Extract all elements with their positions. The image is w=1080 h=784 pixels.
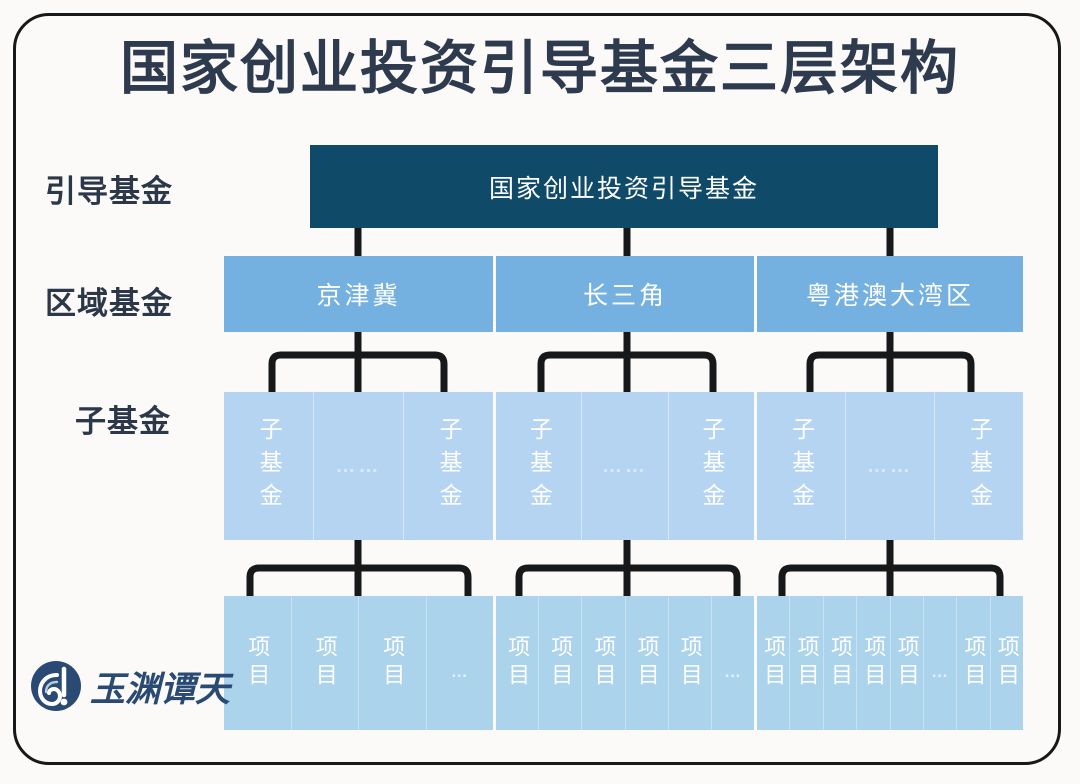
project-ellipsis: …: [924, 596, 957, 730]
sub-fund-cell: 子基金: [404, 392, 493, 540]
sub-fund-cell: 子基金: [757, 392, 846, 540]
project-cell: 项目: [824, 596, 857, 730]
sub-fund-cell: 子基金: [669, 392, 754, 540]
project-cell: 项目: [292, 596, 360, 730]
region-label: 长三角: [583, 276, 667, 312]
row-label-sub-fund: 子基金: [75, 396, 171, 441]
project-cell: 项目: [359, 596, 427, 730]
project-cell: 项目: [626, 596, 669, 730]
sub-fund-row: 子基金 …… 子基金 子基金 …… 子基金 子基金 …… 子基金: [224, 392, 1023, 540]
project-cell: 项目: [790, 596, 823, 730]
project-group-3: 项目 项目 项目 项目 项目 … 项目 项目: [757, 596, 1023, 730]
sub-fund-cell: 子基金: [496, 392, 582, 540]
project-cell: 项目: [582, 596, 625, 730]
region-label: 粤港澳大湾区: [806, 276, 974, 312]
sub-fund-ellipsis: ……: [314, 392, 404, 540]
region-label: 京津冀: [316, 276, 400, 312]
project-cell: 项目: [891, 596, 924, 730]
guide-fund-box: 国家创业投资引导基金: [310, 145, 938, 228]
region-fund-row: 京津冀 长三角 粤港澳大湾区: [224, 256, 1023, 332]
wave-circle-icon: [30, 660, 82, 712]
project-cell: 项目: [539, 596, 582, 730]
project-group-1: 项目 项目 项目 …: [224, 596, 493, 730]
sub-fund-group-yuegangao: 子基金 …… 子基金: [757, 392, 1023, 540]
project-cell: 项目: [991, 596, 1023, 730]
project-ellipsis: …: [712, 596, 754, 730]
sub-fund-ellipsis: ……: [582, 392, 668, 540]
project-cell: 项目: [496, 596, 539, 730]
diagram-canvas: 国家创业投资引导基金三层架构 引导基金 区域基金 子基金 国家创业投资引导基金 …: [0, 0, 1080, 784]
sub-fund-ellipsis: ……: [846, 392, 935, 540]
project-cell: 项目: [224, 596, 292, 730]
row-label-region-fund: 区域基金: [45, 278, 173, 323]
region-box-jingjinji: 京津冀: [224, 256, 493, 332]
sub-fund-group-changsanjiao: 子基金 …… 子基金: [496, 392, 754, 540]
project-group-2: 项目 项目 项目 项目 项目 …: [496, 596, 754, 730]
guide-fund-label: 国家创业投资引导基金: [489, 169, 759, 205]
project-cell: 项目: [857, 596, 890, 730]
project-cell: 项目: [957, 596, 990, 730]
region-box-changsanjiao: 长三角: [496, 256, 754, 332]
row-label-guide-fund: 引导基金: [45, 166, 173, 211]
watermark-logo: 玉渊谭天: [30, 655, 220, 717]
project-cell: 项目: [669, 596, 712, 730]
logo-text: 玉渊谭天: [90, 661, 230, 712]
project-cell: 项目: [757, 596, 790, 730]
sub-fund-group-jingjinji: 子基金 …… 子基金: [224, 392, 493, 540]
project-ellipsis: …: [427, 596, 494, 730]
page-title: 国家创业投资引导基金三层架构: [0, 40, 1080, 98]
project-row: 项目 项目 项目 … 项目 项目 项目 项目 项目 … 项目 项目 项目 项目 …: [224, 596, 1023, 730]
sub-fund-cell: 子基金: [224, 392, 314, 540]
region-box-yuegangao: 粤港澳大湾区: [757, 256, 1023, 332]
sub-fund-cell: 子基金: [935, 392, 1023, 540]
